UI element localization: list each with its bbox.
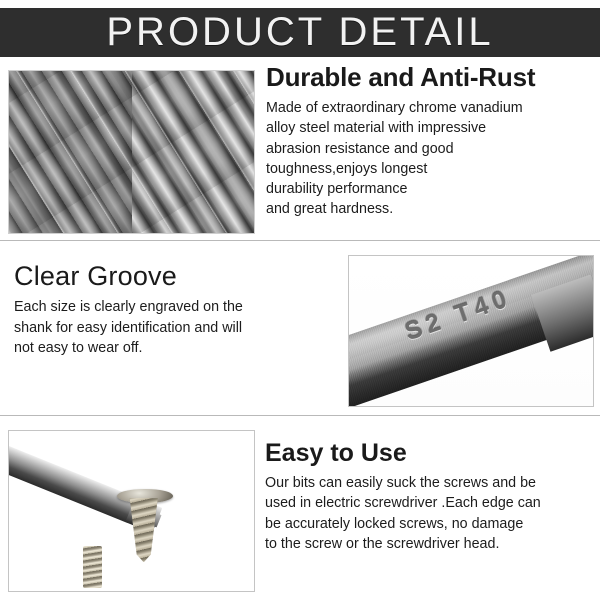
section-3-heading: Easy to Use [265, 440, 595, 466]
section-divider-2 [0, 415, 600, 416]
bit-holding-screw-photo [8, 430, 255, 592]
section-1-heading: Durable and Anti-Rust [266, 64, 592, 91]
section-divider-1 [0, 240, 600, 241]
product-detail-banner: PRODUCT DETAIL [0, 8, 600, 57]
page-title: PRODUCT DETAIL [106, 12, 493, 52]
section-2-heading: Clear Groove [14, 262, 336, 290]
steel-rods-photo [8, 70, 255, 234]
small-screw [83, 546, 103, 588]
section-easy-to-use: Easy to Use Our bits can easily suck the… [0, 419, 600, 600]
engraved-shank-photo: S2 T40 [348, 255, 594, 407]
section-clear-groove: Clear Groove Each size is clearly engrav… [0, 244, 600, 415]
product-detail-page: PRODUCT DETAIL Durable and Anti-Rust Mad… [0, 0, 600, 600]
screw-shaft [128, 498, 160, 562]
section-3-text-column: Easy to Use Our bits can easily suck the… [265, 440, 595, 554]
section-2-text-column: Clear Groove Each size is clearly engrav… [14, 262, 336, 358]
section-durable-anti-rust: Durable and Anti-Rust Made of extraordin… [0, 60, 600, 240]
section-1-text-column: Durable and Anti-Rust Made of extraordin… [266, 64, 592, 219]
section-3-body: Our bits can easily suck the screws and … [265, 473, 595, 554]
section-2-body: Each size is clearly engraved on the sha… [14, 297, 336, 357]
section-1-body: Made of extraordinary chrome vanadium al… [266, 98, 592, 219]
